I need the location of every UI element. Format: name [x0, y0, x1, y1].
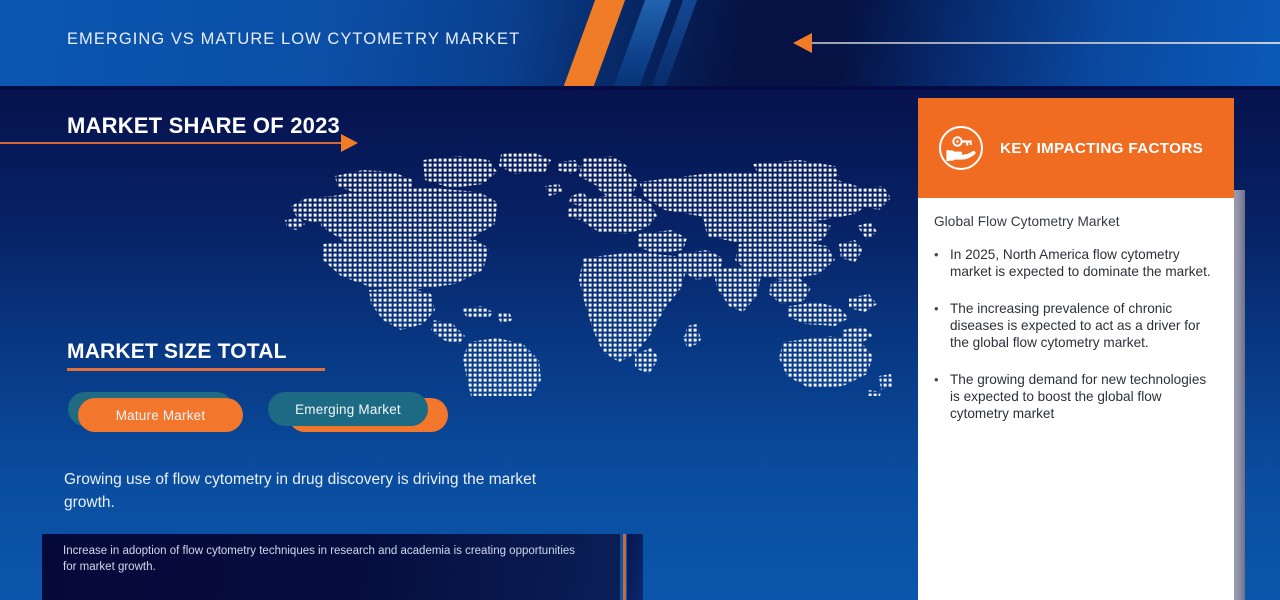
card-header-title: KEY IMPACTING FACTORS	[1000, 140, 1203, 157]
note-box-tail	[627, 534, 643, 600]
bullet-marker: •	[934, 300, 950, 351]
legend-label-mature: Mature Market	[116, 408, 206, 423]
list-item: • The increasing prevalence of chronic d…	[934, 300, 1218, 351]
header-bar: EMERGING VS MATURE LOW CYTOMETRY MARKET	[0, 0, 1280, 86]
market-share-arrow-line	[0, 142, 344, 144]
arrow-left-icon	[793, 33, 812, 53]
body-copy-text: Growing use of flow cytometry in drug di…	[64, 468, 584, 514]
card-subtitle: Global Flow Cytometry Market	[934, 214, 1218, 229]
list-item: • In 2025, North America flow cytometry …	[934, 246, 1218, 280]
header-arrow-line	[812, 42, 1280, 44]
legend-pill-emerging[interactable]: Emerging Market	[268, 392, 428, 426]
card-header: KEY IMPACTING FACTORS	[918, 98, 1234, 198]
header-divider	[0, 86, 1280, 90]
note-box-accent-line	[623, 534, 626, 600]
card-body: Global Flow Cytometry Market • In 2025, …	[918, 198, 1234, 442]
bullet-marker: •	[934, 371, 950, 422]
note-text: Increase in adoption of flow cytometry t…	[63, 543, 583, 575]
legend-item-mature-market[interactable]: Mature Market	[68, 392, 258, 438]
market-share-title: MARKET SHARE OF 2023	[67, 113, 340, 139]
card-drop-shadow	[1234, 190, 1245, 600]
legend-item-emerging-market[interactable]: Emerging Market	[266, 392, 456, 438]
header-title: EMERGING VS MATURE LOW CYTOMETRY MARKET	[67, 30, 520, 49]
legend-label-emerging: Emerging Market	[295, 402, 401, 417]
dotted-world-map	[283, 148, 895, 396]
market-size-underline	[67, 368, 325, 371]
list-item-text: The increasing prevalence of chronic dis…	[950, 300, 1218, 351]
key-impacting-factors-card: KEY IMPACTING FACTORS Global Flow Cytome…	[918, 98, 1234, 600]
list-item-text: In 2025, North America flow cytometry ma…	[950, 246, 1218, 280]
market-size-title: MARKET SIZE TOTAL	[67, 340, 287, 364]
list-item-text: The growing demand for new technologies …	[950, 371, 1218, 422]
hand-holding-key-icon	[938, 125, 984, 171]
bullet-marker: •	[934, 246, 950, 280]
infographic-canvas: EMERGING VS MATURE LOW CYTOMETRY MARKET …	[0, 0, 1280, 600]
legend-pill-mature[interactable]: Mature Market	[78, 398, 243, 432]
list-item: • The growing demand for new technologie…	[934, 371, 1218, 422]
